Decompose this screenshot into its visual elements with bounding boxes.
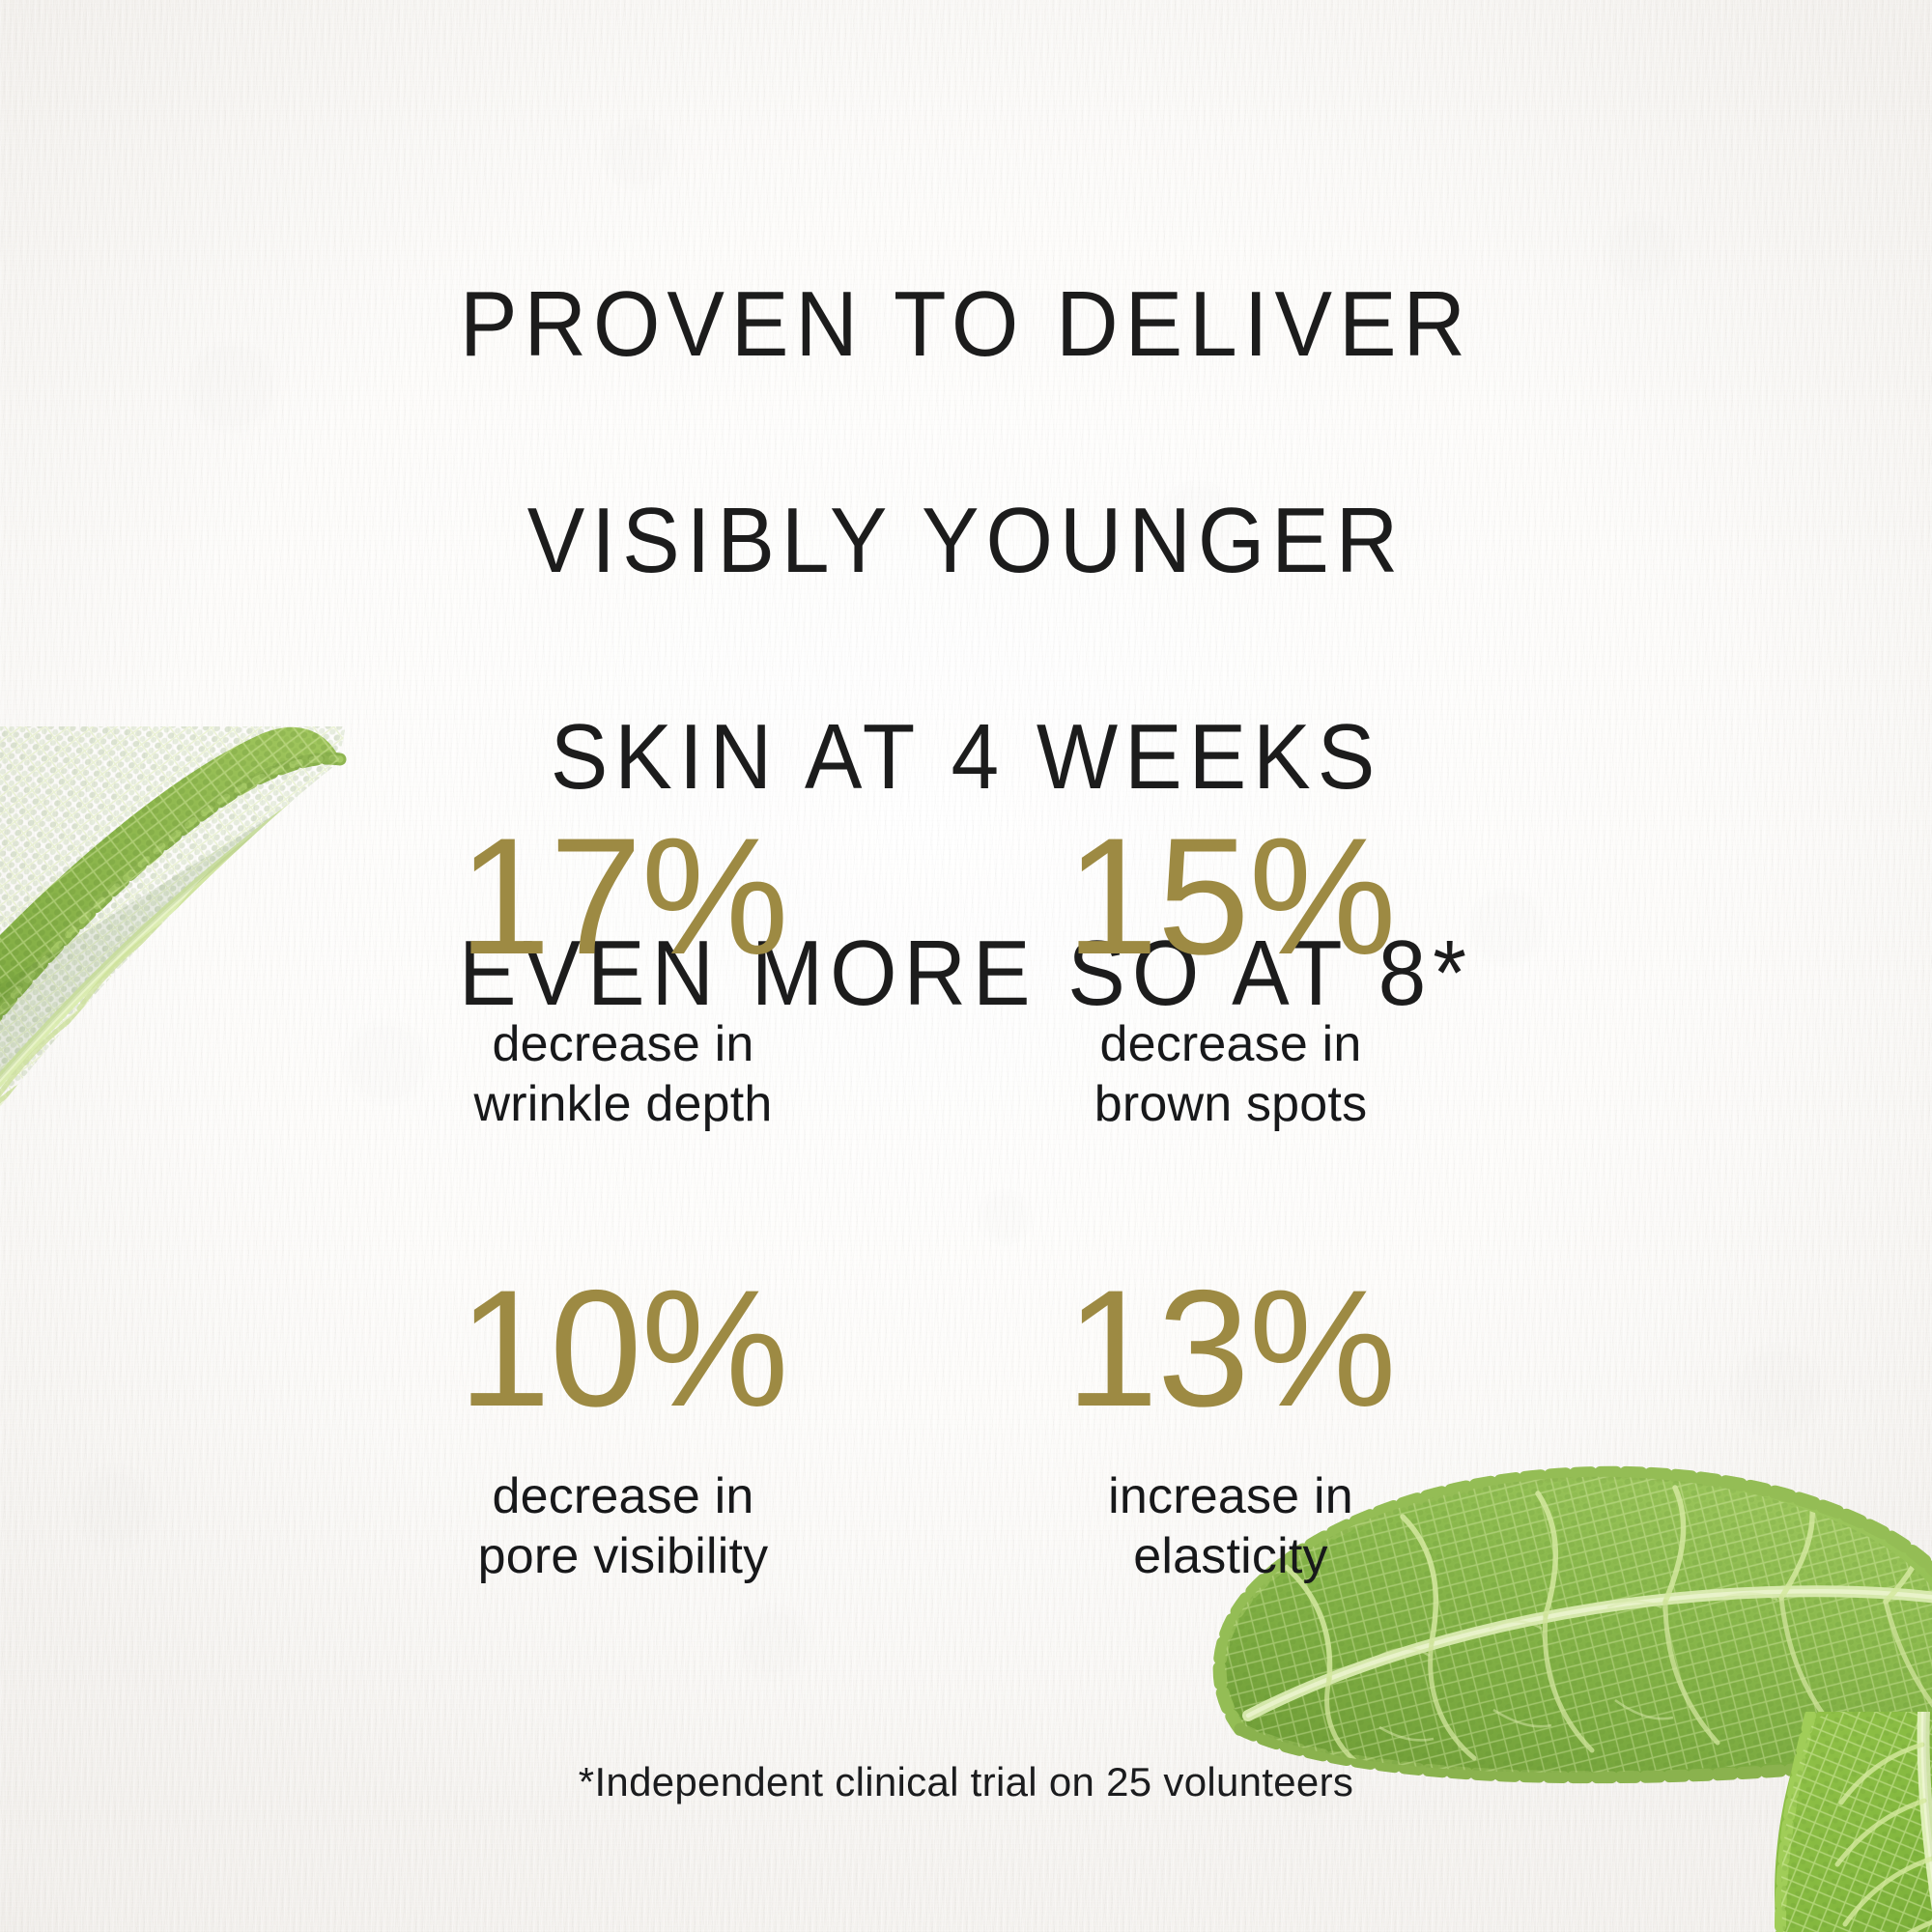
stat-pore-visibility: 10% decrease in pore visibility <box>415 1265 995 1586</box>
clinical-results-grid: 17% decrease in wrinkle depth 15% decrea… <box>415 813 1575 1586</box>
headline-line-2: VISIBLY YOUNGER <box>68 487 1864 595</box>
stat-value-pore-visibility: 10% <box>415 1265 831 1432</box>
stat-value-elasticity: 13% <box>995 1265 1466 1432</box>
stat-wrinkle-depth: 17% decrease in wrinkle depth <box>415 813 995 1134</box>
stat-label-brown-spots: decrease in brown spots <box>995 1014 1466 1134</box>
clinical-trial-footnote: *Independent clinical trial on 25 volunt… <box>0 1759 1932 1805</box>
headline-line-1: PROVEN TO DELIVER <box>68 270 1864 379</box>
stat-value-brown-spots: 15% <box>995 813 1466 980</box>
stat-value-wrinkle-depth: 17% <box>415 813 831 980</box>
headline-line-3: SKIN AT 4 WEEKS <box>68 703 1864 811</box>
stat-label-wrinkle-depth: decrease in wrinkle depth <box>415 1014 831 1134</box>
stat-elasticity: 13% increase in elasticity <box>995 1265 1575 1586</box>
stat-brown-spots: 15% decrease in brown spots <box>995 813 1575 1134</box>
stat-label-pore-visibility: decrease in pore visibility <box>415 1466 831 1586</box>
stat-label-elasticity: increase in elasticity <box>995 1466 1466 1586</box>
infographic-canvas: PROVEN TO DELIVER VISIBLY YOUNGER SKIN A… <box>0 0 1932 1932</box>
